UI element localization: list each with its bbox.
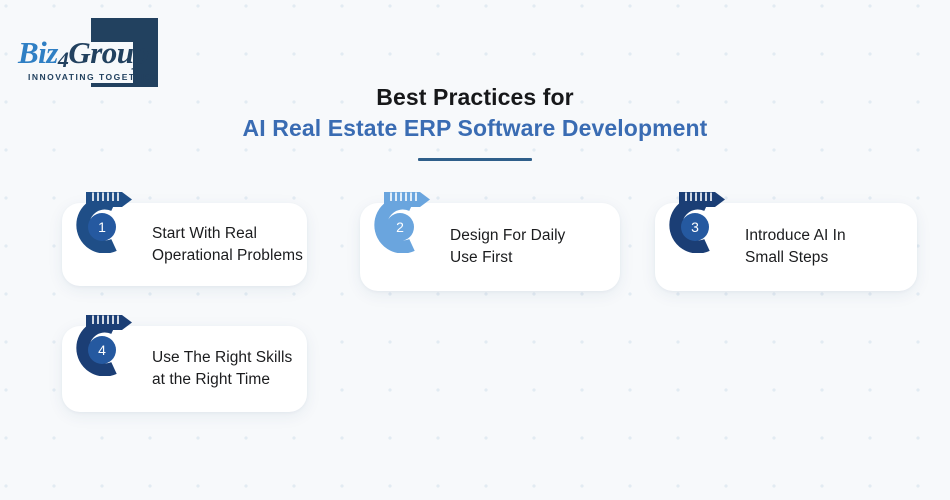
practice-card-3-text: Introduce AI In Small Steps xyxy=(745,225,846,269)
practice-card-4[interactable]: 4 Use The Right Skills at the Right Time xyxy=(62,326,307,412)
biz4group-logo: Biz4Group INNOVATING TOGETHER xyxy=(18,14,178,92)
practice-card-1-text: Start With Real Operational Problems xyxy=(152,223,303,267)
practice-card-2-text: Design For Daily Use First xyxy=(450,225,565,269)
step-badge-1: 1 xyxy=(66,187,140,253)
step-badge-2: 2 xyxy=(364,187,438,253)
step-badge-ring-arrow-1 xyxy=(66,187,140,253)
step-badge-ring-arrow-4 xyxy=(66,310,140,376)
practice-card-1[interactable]: 1 Start With Real Operational Problems xyxy=(62,203,307,286)
title-divider xyxy=(418,158,532,161)
practice-card-4-text: Use The Right Skills at the Right Time xyxy=(152,347,292,391)
page-title-line2: AI Real Estate ERP Software Development xyxy=(0,112,950,144)
step-badge-ring-arrow-3 xyxy=(659,187,733,253)
step-badge-3: 3 xyxy=(659,187,733,253)
infographic-page: Biz4Group INNOVATING TOGETHER Best Pract… xyxy=(0,0,950,500)
logo-tagline: INNOVATING TOGETHER xyxy=(28,72,158,82)
logo-wordmark: Biz4Group xyxy=(18,36,148,70)
step-badge-ring-arrow-2 xyxy=(364,187,438,253)
practice-card-2[interactable]: 2 Design For Daily Use First xyxy=(360,203,620,291)
logo-word-four: 4 xyxy=(58,47,69,72)
step-badge-4: 4 xyxy=(66,310,140,376)
page-title: Best Practices for AI Real Estate ERP So… xyxy=(0,82,950,161)
logo-word-group: Group xyxy=(68,35,148,70)
logo-word-biz: Biz xyxy=(18,35,58,70)
page-title-line1: Best Practices for xyxy=(0,82,950,112)
practice-card-3[interactable]: 3 Introduce AI In Small Steps xyxy=(655,203,917,291)
